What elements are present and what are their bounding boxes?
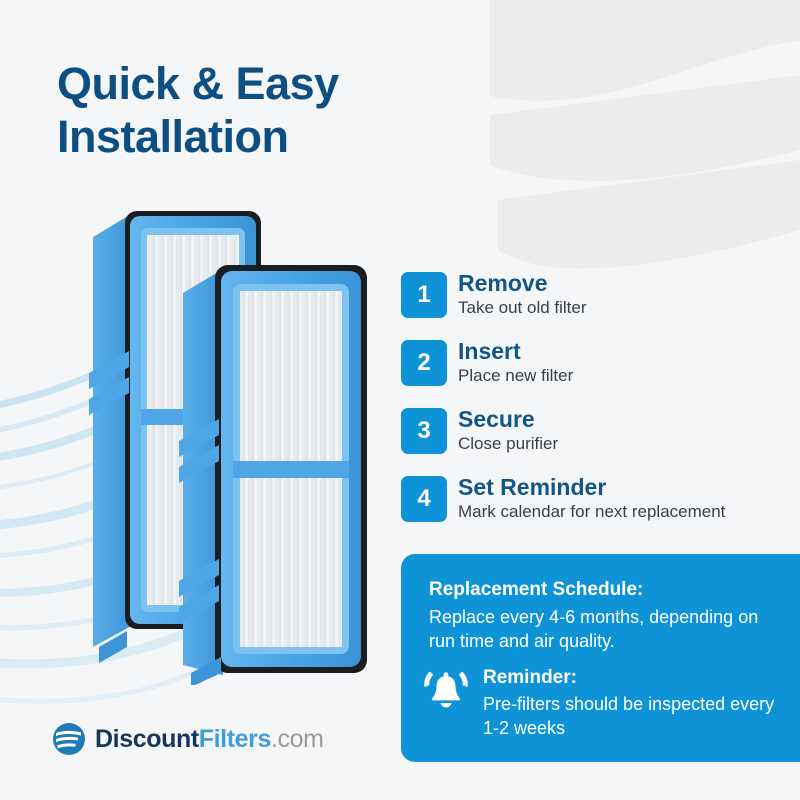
logo-word-discount: Discount bbox=[95, 725, 199, 753]
step-number-badge-3: 3 bbox=[401, 408, 447, 454]
step-text-2: Insert Place new filter bbox=[458, 338, 573, 388]
replacement-schedule-block: Replacement Schedule: Replace every 4-6 … bbox=[429, 578, 784, 653]
brand-logo-text: DiscountFilters.com bbox=[95, 727, 324, 752]
step-title-2: Insert bbox=[458, 338, 573, 364]
logo-word-com: .com bbox=[271, 725, 324, 753]
logo-word-filters: Filters bbox=[199, 725, 271, 753]
step-item-4: 4 Set Reminder Mark calendar for next re… bbox=[401, 476, 791, 544]
reminder-text: Reminder: Pre-filters should be inspecte… bbox=[483, 666, 793, 740]
infographic-canvas: Quick & Easy Installation bbox=[0, 0, 800, 800]
step-text-4: Set Reminder Mark calendar for next repl… bbox=[458, 474, 725, 524]
installation-steps: 1 Remove Take out old filter 2 Insert Pl… bbox=[401, 272, 791, 544]
filter-front bbox=[179, 265, 367, 685]
step-description-1: Take out old filter bbox=[458, 297, 587, 319]
reminder-block: Reminder: Pre-filters should be inspecte… bbox=[423, 666, 793, 740]
replacement-schedule-body: Replace every 4-6 months, depending on r… bbox=[429, 605, 784, 654]
step-item-1: 1 Remove Take out old filter bbox=[401, 272, 791, 340]
filter-product-image bbox=[55, 195, 395, 685]
step-description-3: Close purifier bbox=[458, 433, 558, 455]
page-title: Quick & Easy Installation bbox=[57, 58, 457, 163]
step-description-4: Mark calendar for next replacement bbox=[458, 501, 725, 523]
step-item-2: 2 Insert Place new filter bbox=[401, 340, 791, 408]
discountfilters-logo-mark bbox=[52, 722, 86, 756]
step-number-badge-1: 1 bbox=[401, 272, 447, 318]
step-title-3: Secure bbox=[458, 406, 558, 432]
bell-icon bbox=[423, 666, 469, 740]
step-number-badge-4: 4 bbox=[401, 476, 447, 522]
step-item-3: 3 Secure Close purifier bbox=[401, 408, 791, 476]
brand-logo[interactable]: DiscountFilters.com bbox=[52, 722, 324, 756]
reminder-body: Pre-filters should be inspected every 1-… bbox=[483, 692, 793, 741]
step-description-2: Place new filter bbox=[458, 365, 573, 387]
step-title-4: Set Reminder bbox=[458, 474, 725, 500]
reminder-title: Reminder: bbox=[483, 666, 793, 691]
page-title-line-2: Installation bbox=[57, 111, 457, 164]
replacement-info-panel: Replacement Schedule: Replace every 4-6 … bbox=[401, 554, 800, 762]
step-text-3: Secure Close purifier bbox=[458, 406, 558, 456]
step-title-1: Remove bbox=[458, 270, 587, 296]
replacement-schedule-title: Replacement Schedule: bbox=[429, 578, 784, 603]
step-number-badge-2: 2 bbox=[401, 340, 447, 386]
page-title-line-1: Quick & Easy bbox=[57, 58, 339, 109]
step-text-1: Remove Take out old filter bbox=[458, 270, 587, 320]
